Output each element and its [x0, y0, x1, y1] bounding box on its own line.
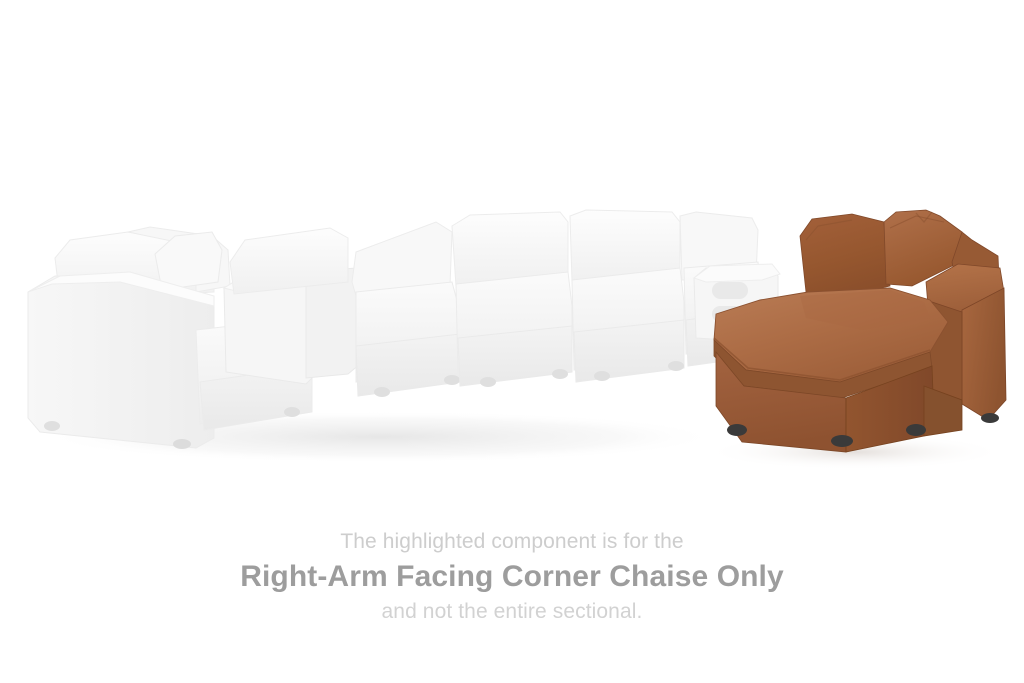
chaise-back-cushion [800, 214, 890, 300]
caption-block: The highlighted component is for the Rig… [0, 528, 1024, 626]
chaise-foot-2 [831, 435, 853, 447]
caption-line-main: Right-Arm Facing Corner Chaise Only [0, 556, 1024, 598]
ghost-foot-9 [668, 361, 684, 371]
ghost-foot-3 [284, 407, 300, 417]
cup-holder-icon-right-a [712, 282, 748, 299]
ghost-foot-8 [594, 371, 610, 381]
caption-line-bottom: and not the entire sectional. [0, 598, 1024, 626]
chaise-foot-3 [906, 424, 926, 436]
ghost-module-corner-wedge [452, 212, 572, 387]
ghost-foot-7 [552, 369, 568, 379]
chaise-foot-1 [727, 424, 747, 436]
ghost-foot-6 [480, 377, 496, 387]
ghost-foot-2 [173, 439, 191, 449]
chaise-arm-outer-panel [962, 288, 1006, 420]
ghost-foot-4 [374, 387, 390, 397]
ghost-foot-1 [44, 421, 60, 431]
caption-line-top: The highlighted component is for the [0, 528, 1024, 556]
chaise-foot-4 [981, 413, 999, 423]
